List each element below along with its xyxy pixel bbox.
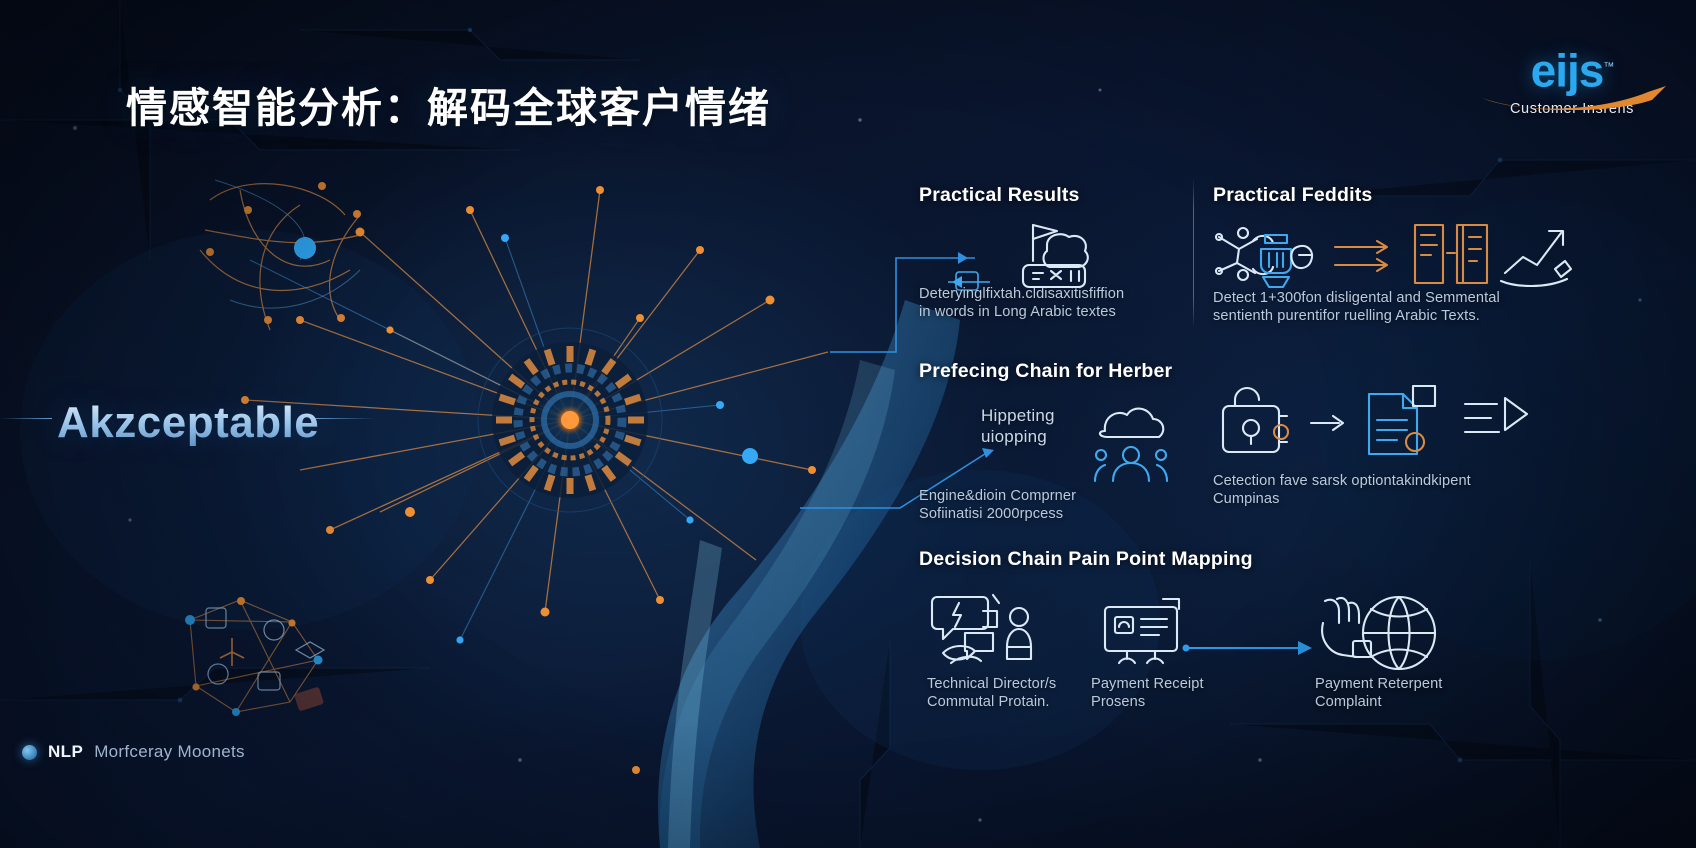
server-stack-icon: [1003, 217, 1099, 291]
double-arrow-icon: [1331, 235, 1401, 277]
brand-logo: eijs™ Customer Insrens: [1472, 44, 1672, 140]
section-caption-line2: in words in Long Arabic textes: [919, 303, 1179, 321]
content-panel: Practical Results Deteryinglfixtah.cldis…: [905, 168, 1680, 748]
footer-dot-icon: [22, 745, 37, 760]
decision-item-caption-line2: Prosens: [1091, 693, 1204, 711]
section-title: Prefecing Chain for Herber: [919, 360, 1189, 383]
section-divider: [1193, 178, 1194, 328]
logo-swoosh-icon: [1480, 84, 1670, 110]
footer-brand-text: Morfceray Moonets: [94, 742, 245, 762]
globe-hand-icon: [1317, 589, 1447, 675]
section-title: Decision Chain Pain Point Mapping: [919, 548, 1659, 571]
footer-brand: NLP Morfceray Moonets: [22, 742, 245, 762]
section-decision-chain: Decision Chain Pain Point Mapping: [919, 548, 1659, 719]
sub-label-line1: Hippeting: [981, 405, 1055, 426]
hero-word: Akzceptable: [57, 398, 319, 448]
decision-item-caption-line1: Technical Director/s: [927, 675, 1056, 693]
section-caption-line2: Cumpinas: [1213, 490, 1613, 508]
secure-box-icon: [1213, 386, 1293, 464]
section-caption-line2: sentienth purentifor ruelling Arabic Tex…: [1213, 307, 1633, 325]
file-review-icon: [1357, 382, 1445, 466]
decision-item-caption-line1: Payment Reterpent: [1315, 675, 1442, 693]
page-title: 情感智能分析：解码全球客户情绪: [126, 74, 771, 134]
section-detection-cluster: Cetection fave sarsk optiontakindkipent …: [1213, 380, 1613, 508]
footer-brand-label: NLP: [48, 742, 83, 762]
section-prefecing-chain: Prefecing Chain for Herber Hippeting uio…: [919, 360, 1189, 523]
sub-label-line2: uiopping: [981, 426, 1047, 447]
arrow-right-icon: [1307, 408, 1349, 438]
section-practical-feddits: Practical Feddits: [1213, 184, 1633, 325]
decision-item-caption-line1: Payment Receipt: [1091, 675, 1204, 693]
decision-item-caption-line2: Commutal Protain.: [927, 693, 1056, 711]
feedback-chat-icon: [925, 589, 1043, 675]
monitor-card-icon: [1101, 593, 1193, 671]
network-mask-icon: [1213, 219, 1323, 295]
section-title: Practical Feddits: [1213, 184, 1633, 207]
slide-canvas: 情感智能分析：解码全球客户情绪 eijs™ Customer Insrens A…: [0, 0, 1696, 848]
section-practical-results: Practical Results Deteryinglfixtah.cldis…: [919, 184, 1179, 321]
logo-trademark-icon: ™: [1603, 61, 1613, 73]
cloud-users-icon: [1083, 395, 1179, 491]
section-title: Practical Results: [919, 184, 1179, 207]
section-caption-line1: Cetection fave sarsk optiontakindkipent: [1213, 472, 1613, 490]
document-compare-icon: [1409, 219, 1495, 291]
section-caption-line2: Sofiinatisi 2000rpcess: [919, 505, 1189, 523]
growth-chart-icon: [1497, 217, 1577, 289]
hero-rule-right: [310, 418, 376, 419]
decision-item-caption-line2: Complaint: [1315, 693, 1442, 711]
hero-rule-left: [0, 418, 52, 419]
flag-list-icon: [1459, 392, 1535, 458]
